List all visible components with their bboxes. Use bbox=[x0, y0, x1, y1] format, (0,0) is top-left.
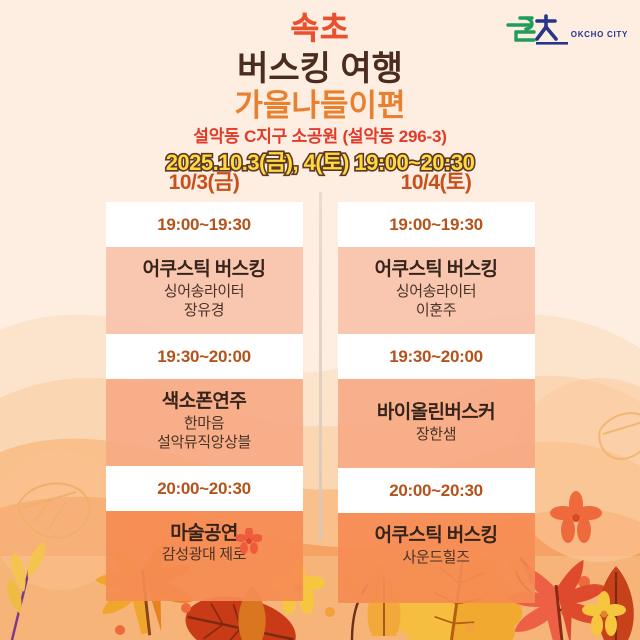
logo-wordmark: OKCHO CITY bbox=[571, 30, 628, 46]
day-header-friday: 10/3(금) bbox=[106, 170, 303, 202]
poster-canvas: OKCHO CITY 속초 버스킹 여행 가을나들이편 설악동 C지구 소공원 … bbox=[0, 0, 640, 640]
time-slot: 19:00~19:30 bbox=[338, 202, 535, 247]
title-busking: 버스킹 여행 bbox=[0, 51, 640, 88]
act-cell: 어쿠스틱 버스킹 사운드힐즈 bbox=[338, 513, 535, 603]
time-slot: 19:00~19:30 bbox=[106, 202, 303, 247]
act-subtitle: 싱어송라이터 bbox=[338, 282, 535, 302]
act-title: 어쿠스틱 버스킹 bbox=[338, 524, 535, 548]
schedule-column-saturday: 10/4(토) 19:00~19:30 어쿠스틱 버스킹 싱어송라이터 이훈주 … bbox=[338, 170, 535, 603]
schedule-table: 10/3(금) 19:00~19:30 어쿠스틱 버스킹 싱어송라이터 장유경 … bbox=[0, 170, 640, 603]
act-cell: 색소폰연주 한마음 설악뮤직앙상블 bbox=[106, 379, 303, 466]
act-title: 바이올린버스커 bbox=[338, 401, 535, 425]
sokcho-logo-mark bbox=[506, 14, 568, 46]
act-subtitle: 싱어송라이터 bbox=[106, 282, 303, 302]
act-cell: 마술공연 감성광대 제로 bbox=[106, 511, 303, 601]
act-cell: 어쿠스틱 버스킹 싱어송라이터 장유경 bbox=[106, 247, 303, 334]
act-performer: 장유경 bbox=[106, 301, 303, 321]
title-subtitle: 가을나들이편 bbox=[0, 90, 640, 123]
time-slot: 20:00~20:30 bbox=[106, 466, 303, 511]
schedule-column-friday: 10/3(금) 19:00~19:30 어쿠스틱 버스킹 싱어송라이터 장유경 … bbox=[106, 170, 303, 603]
act-cell: 바이올린버스커 장한샘 bbox=[338, 379, 535, 468]
act-title: 어쿠스틱 버스킹 bbox=[106, 258, 303, 282]
act-performer: 설악뮤직앙상블 bbox=[106, 433, 303, 453]
sokcho-city-logo: OKCHO CITY bbox=[506, 14, 628, 46]
venue-text: 설악동 C지구 소공원 (설악동 296-3) bbox=[0, 128, 640, 147]
column-divider bbox=[319, 192, 322, 541]
act-performer: 이훈주 bbox=[338, 301, 535, 321]
time-slot: 19:30~20:00 bbox=[106, 334, 303, 379]
act-title: 어쿠스틱 버스킹 bbox=[338, 258, 535, 282]
time-slot: 19:30~20:00 bbox=[338, 334, 535, 379]
act-title: 색소폰연주 bbox=[106, 390, 303, 414]
day-header-saturday: 10/4(토) bbox=[338, 170, 535, 202]
time-slot: 20:00~20:30 bbox=[338, 468, 535, 513]
act-title: 마술공연 bbox=[106, 522, 303, 546]
act-performer: 장한샘 bbox=[338, 425, 535, 445]
act-subtitle: 한마음 bbox=[106, 414, 303, 434]
act-subtitle: 감성광대 제로 bbox=[106, 545, 303, 565]
act-performer: 사운드힐즈 bbox=[338, 548, 535, 568]
act-cell: 어쿠스틱 버스킹 싱어송라이터 이훈주 bbox=[338, 247, 535, 334]
